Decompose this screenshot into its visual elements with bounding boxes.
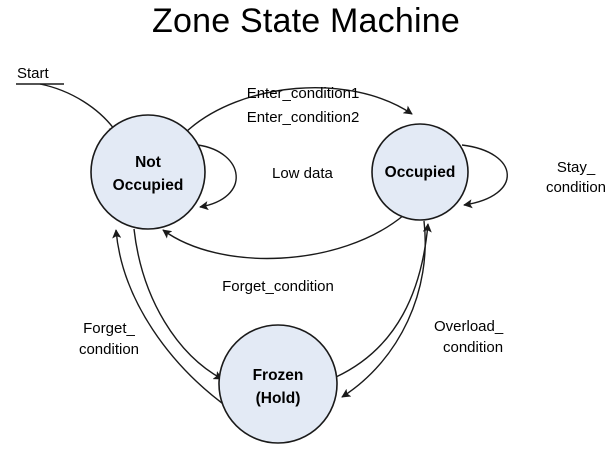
edge-label-forget-condition-frozen-2: condition [79,341,139,358]
state-circle-not-occupied[interactable] [91,115,205,229]
edge-overload-condition: Overload_ condition [342,221,504,397]
state-node-occupied[interactable]: Occupied [372,124,468,220]
state-label-not-occupied-line1: Not [135,154,161,171]
state-label-frozen-line1: Frozen [253,367,304,384]
state-machine-diagram: Start Enter_condition1 Enter_condition2 … [0,0,612,454]
edge-label-low-data: Low data [272,165,334,182]
edge-label-forget-condition-occupied: Forget_condition [222,278,334,295]
edge-forget-condition-occupied: Forget_condition [163,215,404,295]
edge-label-forget-condition-frozen-1: Forget_ [83,320,135,337]
edge-forget-occupied-path [163,215,404,258]
edge-label-overload-condition-2: condition [443,339,503,356]
edge-label-stay-condition-1: Stay_ [557,159,596,176]
edge-label-start: Start [17,65,50,82]
edge-enter-condition: Enter_condition1 Enter_condition2 [186,85,412,132]
edge-label-enter-condition2: Enter_condition2 [247,109,360,126]
edge-stay-condition-path [462,145,507,205]
edge-forget-condition-frozen: Forget_ condition [79,230,230,409]
edge-stay-condition-self-loop: Stay_ condition [462,145,606,205]
edge-frozen-to-occupied-path [336,224,428,377]
start-arrow-path [40,84,117,133]
state-node-frozen[interactable]: Frozen (Hold) [219,325,337,443]
edge-label-enter-condition1: Enter_condition1 [247,85,360,102]
edge-overload-path [342,221,425,397]
state-label-occupied-line1: Occupied [385,164,456,181]
edge-label-stay-condition-2: condition [546,179,606,196]
state-node-not-occupied[interactable]: Not Occupied [91,115,205,229]
edge-frozen-to-occupied [336,224,428,377]
edge-low-data-self-loop: Low data [198,145,334,207]
state-label-not-occupied-line2: Occupied [113,177,184,194]
edge-label-overload-condition-1: Overload_ [434,318,504,335]
state-label-frozen-line2: (Hold) [256,390,301,407]
edge-start-entry: Start [16,65,117,133]
